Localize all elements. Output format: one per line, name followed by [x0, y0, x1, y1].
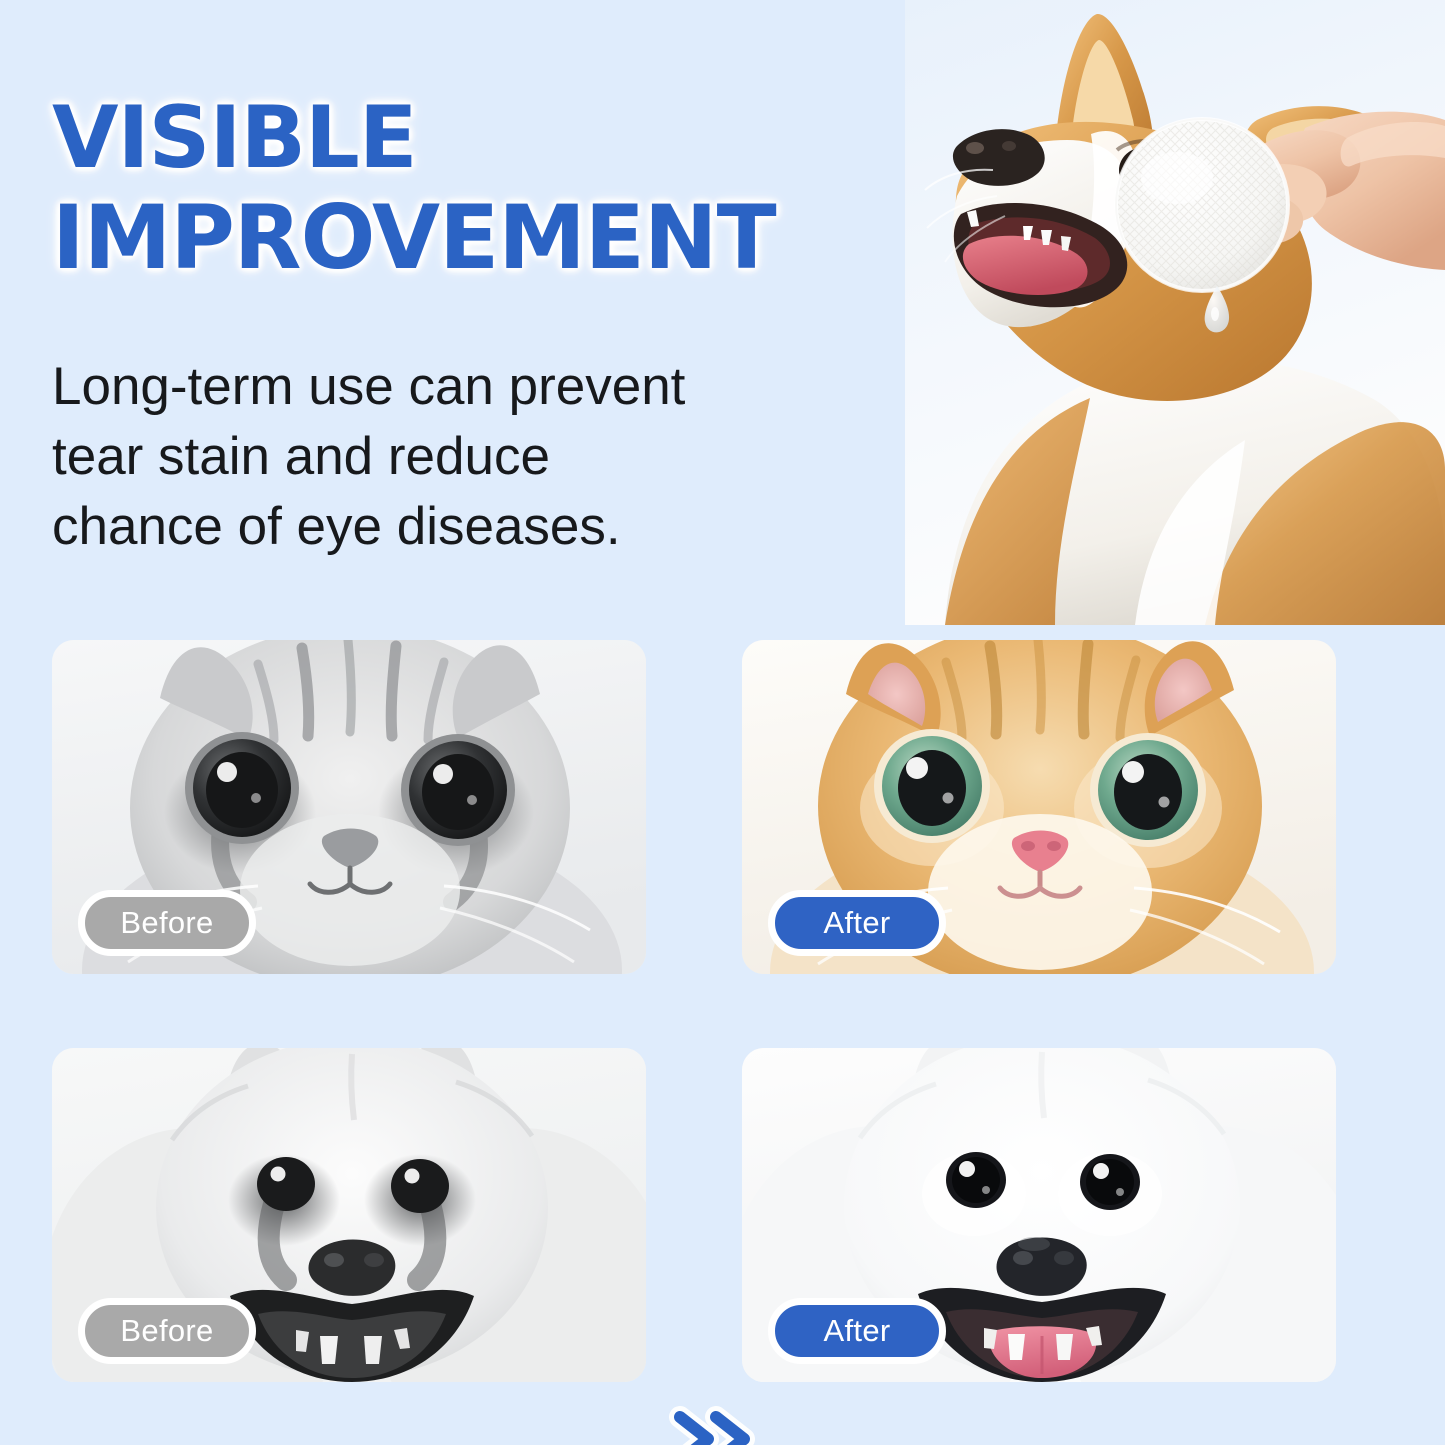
headline-line-1: VISIBLE: [52, 88, 932, 188]
comparison-row-cat: Before: [0, 640, 1445, 974]
before-badge-dog: Before: [78, 1298, 256, 1364]
before-photo-dog: Before: [52, 1048, 646, 1382]
product-infographic: VISIBLE IMPROVEMENT Long-term use can pr…: [0, 0, 1445, 1445]
description-line-3: chance of eye diseases.: [52, 492, 842, 562]
headline-line-2: IMPROVEMENT: [52, 188, 932, 288]
description-line-1: Long-term use can prevent: [52, 352, 842, 422]
after-photo-cat: After: [742, 640, 1336, 974]
description-line-2: tear stain and reduce: [52, 422, 842, 492]
comparison-row-dog: Before: [0, 1048, 1445, 1382]
hero-dog-wipe-photo: [905, 0, 1445, 625]
before-badge-cat: Before: [78, 890, 256, 956]
after-badge-dog: After: [768, 1298, 946, 1364]
description-text: Long-term use can prevent tear stain and…: [52, 352, 842, 562]
before-photo-cat: Before: [52, 640, 646, 974]
after-badge-cat: After: [768, 890, 946, 956]
page-title: VISIBLE IMPROVEMENT: [52, 88, 932, 288]
after-photo-dog: After: [742, 1048, 1336, 1382]
double-chevron-right-icon-cat: [660, 1396, 760, 1445]
